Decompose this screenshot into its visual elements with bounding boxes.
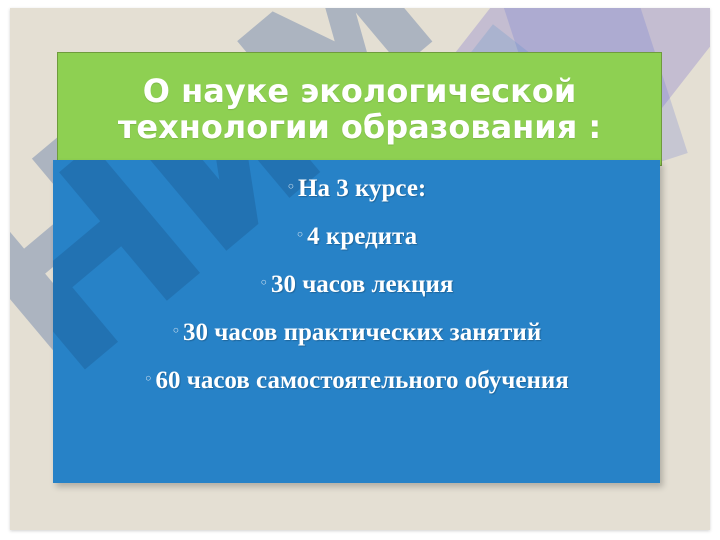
bullet-circle-icon: ◦ — [296, 229, 304, 242]
list-item-label: 60 часов самостоятельного обучения — [155, 368, 568, 393]
list-item: ◦ 4 кредита — [67, 224, 646, 249]
bullet-circle-icon: ◦ — [144, 373, 152, 386]
slide-root: Нимот О науке экологической технологии о… — [0, 0, 720, 540]
list-item: ◦ 30 часов практических занятий — [67, 320, 646, 345]
slide-title-box: О науке экологической технологии образов… — [57, 52, 662, 166]
bullet-list: ◦ На 3 курсе: ◦ 4 кредита ◦ 30 часов лек… — [53, 160, 660, 393]
slide-surface: Нимот О науке экологической технологии о… — [10, 8, 710, 530]
list-item-label: 30 часов практических занятий — [183, 320, 541, 345]
bullet-circle-icon: ◦ — [260, 277, 268, 290]
list-item: ◦ 30 часов лекция — [67, 272, 646, 297]
slide-content-box: Нимот ◦ На 3 курсе: ◦ 4 кредита ◦ 30 час… — [53, 160, 660, 483]
list-item: ◦ 60 часов самостоятельного обучения — [67, 368, 646, 393]
list-item-label: 30 часов лекция — [271, 272, 453, 297]
bullet-circle-icon: ◦ — [172, 325, 180, 338]
list-item-label: На 3 курсе: — [298, 176, 426, 201]
list-item-label: 4 кредита — [307, 224, 417, 249]
bullet-circle-icon: ◦ — [287, 181, 295, 194]
list-item: ◦ На 3 курсе: — [67, 176, 646, 201]
page-title: О науке экологической технологии образов… — [112, 73, 607, 145]
